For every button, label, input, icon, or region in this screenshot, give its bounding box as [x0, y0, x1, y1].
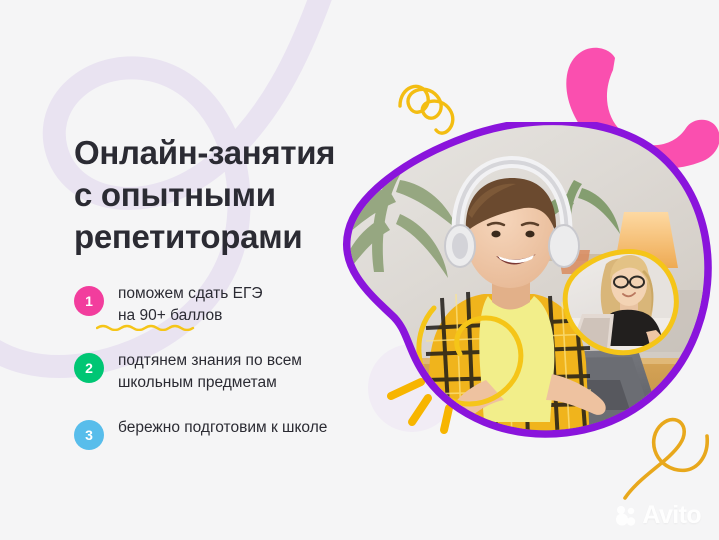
bullet-text-1: поможем сдать ЕГЭ на 90+ баллов: [118, 283, 263, 327]
wavy-underline-icon: [96, 323, 199, 331]
avito-wordmark: Avito: [642, 503, 701, 528]
bullet-number-2: 2: [74, 353, 104, 383]
page-title: Онлайн-занятия с опытными репетиторами: [74, 132, 374, 259]
photo-composition: [338, 122, 719, 442]
bullet-text-2: подтянем знания по всем школьным предмет…: [118, 350, 302, 394]
promo-banner: Онлайн-занятия с опытными репетиторами 1…: [0, 0, 719, 540]
avito-watermark: Avito: [615, 503, 701, 528]
bullet-number-1: 1: [74, 286, 104, 316]
avito-logo-icon: [615, 505, 637, 527]
bullet-text-3: бережно подготовим к школе: [118, 417, 327, 439]
bullet-number-3: 3: [74, 420, 104, 450]
